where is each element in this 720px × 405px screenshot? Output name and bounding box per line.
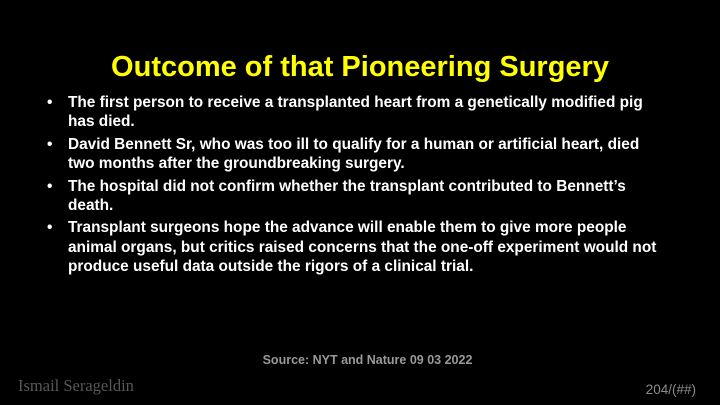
list-item: • The first person to receive a transpla… [40, 93, 668, 132]
list-item: • Transplant surgeons hope the advance w… [40, 218, 668, 276]
list-item-text: The first person to receive a transplant… [68, 93, 668, 132]
list-item: • David Bennett Sr, who was too ill to q… [40, 135, 668, 174]
page-title: Outcome of that Pioneering Surgery [0, 50, 720, 84]
source-citation: Source: NYT and Nature 09 03 2022 [0, 353, 720, 368]
bullet-dot-icon: • [47, 93, 61, 112]
bullet-dot-icon: • [47, 135, 61, 154]
list-item-text: Transplant surgeons hope the advance wil… [68, 218, 668, 276]
slide-page-number: 204/(##) [646, 382, 696, 398]
bullet-list: • The first person to receive a transpla… [40, 93, 668, 280]
list-item: • The hospital did not confirm whether t… [40, 177, 668, 216]
list-item-text: The hospital did not confirm whether the… [68, 177, 668, 216]
author-credit: Ismail Serageldin [18, 376, 134, 395]
bullet-dot-icon: • [47, 177, 61, 196]
presentation-slide: Outcome of that Pioneering Surgery • The… [0, 0, 720, 405]
list-item-text: David Bennett Sr, who was too ill to qua… [68, 135, 668, 174]
bullet-dot-icon: • [47, 218, 61, 237]
